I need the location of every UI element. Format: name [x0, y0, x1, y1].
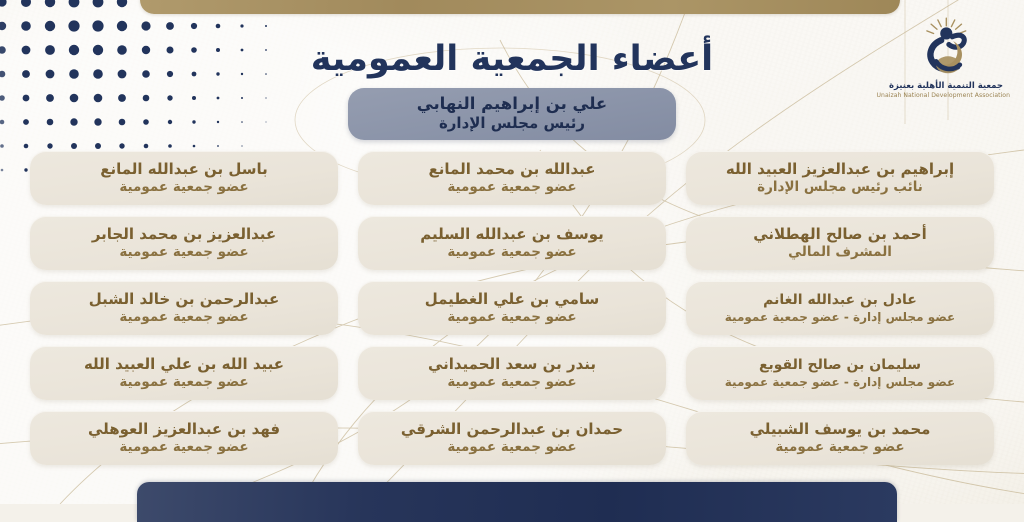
- member-name: إبراهيم بن عبدالعزيز العبيد الله: [726, 161, 954, 179]
- logo-name-ar: جمعية التنمية الأهلية بعنيزة: [882, 81, 1010, 91]
- member-card: سليمان بن صالح القوبععضو مجلس إدارة - عض…: [686, 346, 994, 400]
- member-role: عضو جمعية عمومية: [447, 309, 576, 325]
- member-role: المشرف المالي: [788, 244, 892, 260]
- member-card: عادل بن عبدالله الغانمعضو مجلس إدارة - ع…: [686, 281, 994, 335]
- member-name: عبيد الله بن علي العبيد الله: [84, 356, 284, 374]
- chairman-role: رئيس مجلس الإدارة: [362, 114, 662, 132]
- top-gold-bar: [140, 0, 900, 14]
- member-role: عضو جمعية عمومية: [447, 374, 576, 390]
- member-card: أحمد بن صالح الهطلانيالمشرف المالي: [686, 216, 994, 270]
- member-name: أحمد بن صالح الهطلاني: [753, 226, 927, 244]
- member-name: سامي بن علي الغطيمل: [425, 291, 600, 309]
- page-title: أعضاء الجمعية العمومية: [0, 39, 1024, 79]
- member-name: فهد بن عبدالعزيز العوهلي: [88, 421, 280, 439]
- member-name: عبدالرحمن بن خالد الشبل: [89, 291, 280, 309]
- member-role: عضو جمعية عمومية: [119, 374, 248, 390]
- member-name: حمدان بن عبدالرحمن الشرقي: [401, 421, 623, 439]
- member-role: عضو مجلس إدارة - عضو جمعية عمومية: [725, 375, 955, 389]
- member-name: بندر بن سعد الحميداني: [428, 356, 596, 374]
- chairman-card: علي بن إبراهيم النهابي رئيس مجلس الإدارة: [348, 88, 676, 140]
- member-name: عادل بن عبدالله الغانم: [763, 292, 917, 309]
- member-card: باسل بن عبدالله المانععضو جمعية عمومية: [30, 151, 338, 205]
- member-name: سليمان بن صالح القوبع: [759, 357, 921, 374]
- unaizah-association-logo-icon: [904, 14, 989, 80]
- member-card: سامي بن علي الغطيملعضو جمعية عمومية: [358, 281, 666, 335]
- member-card: عبيد الله بن علي العبيد اللهعضو جمعية عم…: [30, 346, 338, 400]
- member-card: إبراهيم بن عبدالعزيز العبيد اللهنائب رئي…: [686, 151, 994, 205]
- members-grid: إبراهيم بن عبدالعزيز العبيد اللهنائب رئي…: [30, 151, 994, 465]
- member-card: عبدالرحمن بن خالد الشبلعضو جمعية عمومية: [30, 281, 338, 335]
- association-logo: جمعية التنمية الأهلية بعنيزة Unaizah Nat…: [882, 14, 1010, 99]
- member-card: فهد بن عبدالعزيز العوهليعضو جمعية عمومية: [30, 411, 338, 465]
- member-role: عضو جمعية عمومية: [447, 244, 576, 260]
- bottom-navy-bar: [137, 482, 897, 522]
- member-card: بندر بن سعد الحميدانيعضو جمعية عمومية: [358, 346, 666, 400]
- member-name: عبدالله بن محمد المانع: [429, 161, 596, 179]
- member-role: نائب رئيس مجلس الإدارة: [757, 179, 923, 195]
- member-name: محمد بن يوسف الشبيلي: [750, 421, 931, 439]
- member-card: عبدالعزيز بن محمد الجابرعضو جمعية عمومية: [30, 216, 338, 270]
- member-role: عضو جمعية عمومية: [119, 439, 248, 455]
- member-card: محمد بن يوسف الشبيليعضو جمعية عمومية: [686, 411, 994, 465]
- member-role: عضو جمعية عمومية: [447, 439, 576, 455]
- member-role: عضو جمعية عمومية: [119, 244, 248, 260]
- chairman-name: علي بن إبراهيم النهابي: [362, 94, 662, 114]
- member-name: يوسف بن عبدالله السليم: [420, 226, 604, 244]
- member-card: حمدان بن عبدالرحمن الشرقيعضو جمعية عمومي…: [358, 411, 666, 465]
- member-role: عضو جمعية عمومية: [119, 179, 248, 195]
- member-card: عبدالله بن محمد المانععضو جمعية عمومية: [358, 151, 666, 205]
- member-role: عضو جمعية عمومية: [119, 309, 248, 325]
- member-name: عبدالعزيز بن محمد الجابر: [92, 226, 276, 244]
- member-name: باسل بن عبدالله المانع: [100, 161, 268, 179]
- member-role: عضو جمعية عمومية: [775, 439, 904, 455]
- member-card: يوسف بن عبدالله السليمعضو جمعية عمومية: [358, 216, 666, 270]
- member-role: عضو مجلس إدارة - عضو جمعية عمومية: [725, 310, 955, 324]
- logo-name-en: Unaizah National Development Association: [882, 92, 1010, 99]
- member-role: عضو جمعية عمومية: [447, 179, 576, 195]
